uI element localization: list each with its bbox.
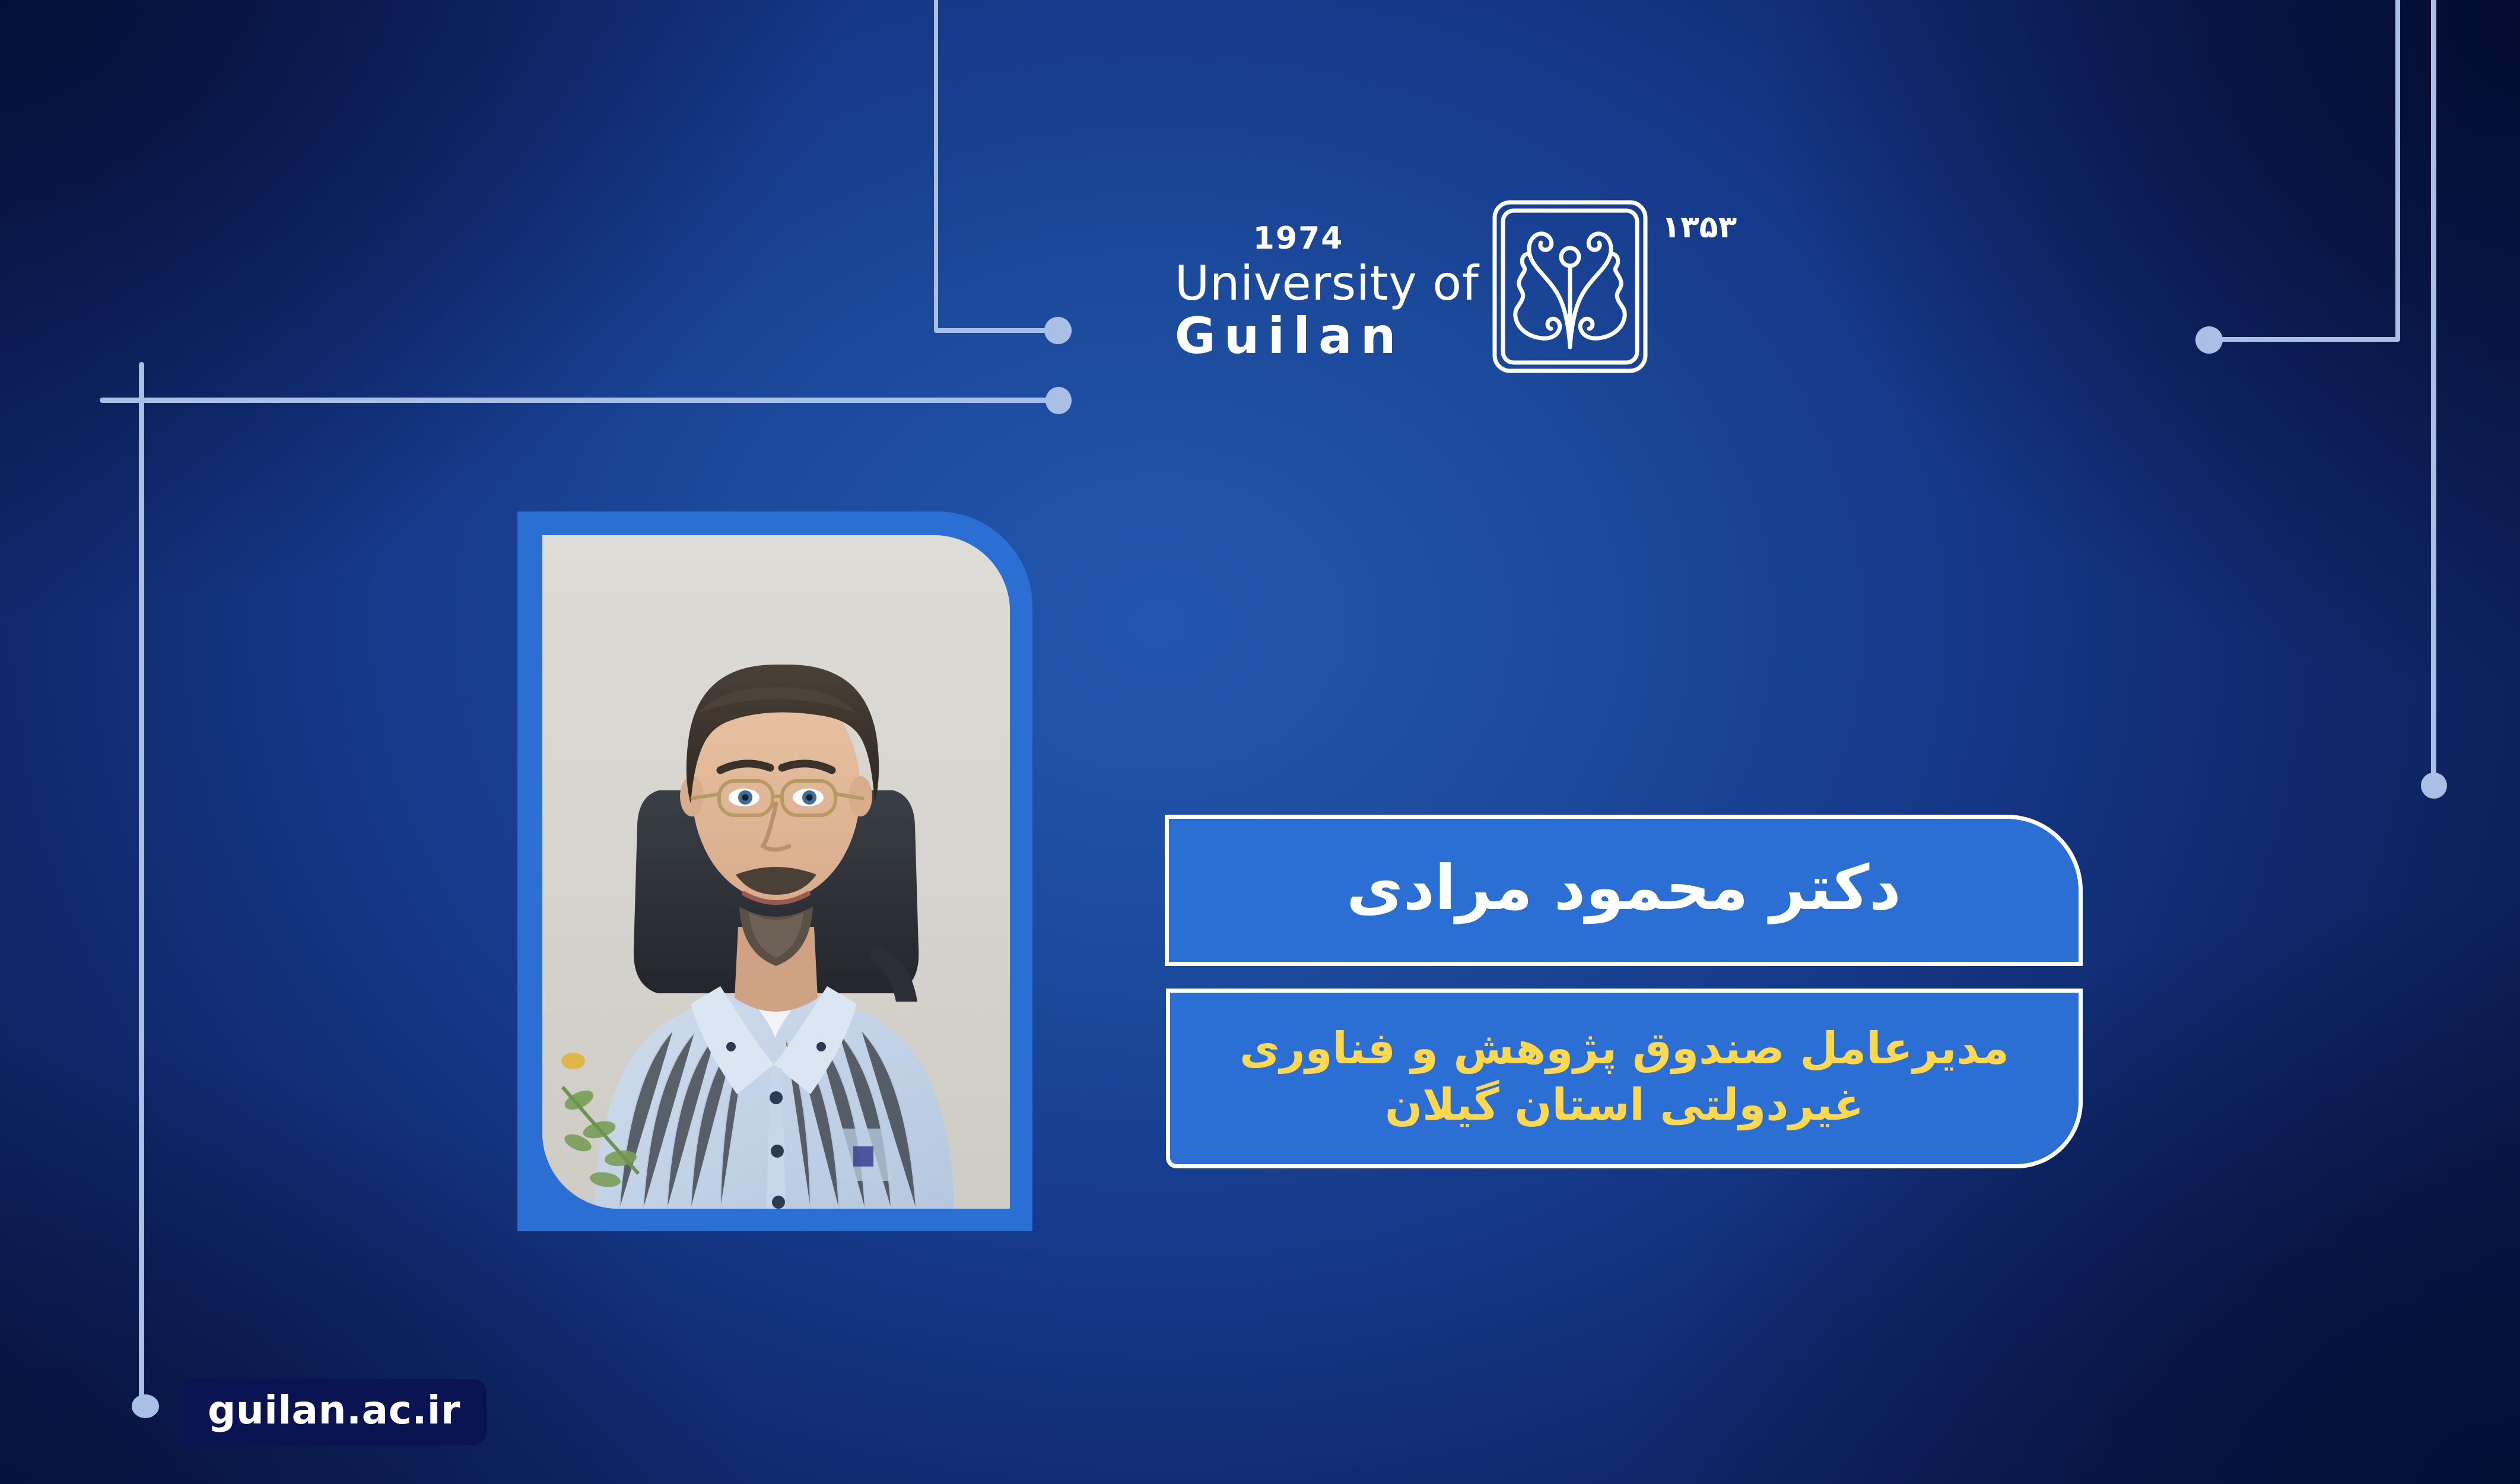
logo-latin-text: 1974 University of Guilan [1175,212,1479,363]
decor-dot-right-corner [2195,326,2223,354]
decor-line-left-vertical [139,362,144,1406]
portrait-frame [517,511,1032,1231]
portrait-photo [542,535,1010,1209]
logo-founding-year-persian: ۱۳۵۳ [1661,209,1737,245]
decor-line-mid-horizontal [100,398,1054,403]
decor-line-right-corner-horizontal [2210,337,2400,342]
university-logo: 1974 University of Guilan ۱۳۵۳ [1145,196,2106,380]
logo-persian-script: دانشگاه گیلان [1661,245,2077,366]
logo-guilan-word: Guilan [1175,311,1479,361]
poster-canvas: 1974 University of Guilan ۱۳۵۳ [0,0,2520,1484]
person-title: مدیرعامل صندوق پژوهش و فناوری غیردولتی ا… [1219,1021,2029,1136]
website-url-badge[interactable]: guilan.ac.ir [182,1379,487,1445]
svg-text:دانشگاه گیلان: دانشگاه گیلان [2074,263,2077,354]
person-name-banner: دکتر محمود مرادی [1165,815,2083,966]
person-title-line2: غیردولتی استان گیلان [1385,1079,1864,1130]
decor-dot-mid [1046,387,1072,414]
decor-dot-right [2421,773,2447,799]
logo-university-word: University of [1175,260,1479,307]
person-title-banner: مدیرعامل صندوق پژوهش و فناوری غیردولتی ا… [1166,989,2083,1168]
decor-dot-bottom-left [132,1394,159,1418]
logo-founding-year-latin: 1974 [1253,223,1479,254]
person-name: دکتر محمود مرادی [1346,857,1901,924]
decor-line-right-vertical [2431,0,2436,786]
decor-dot-top [1044,317,1072,344]
guilan-emblem-icon [1487,198,1653,378]
person-title-line1: مدیرعامل صندوق پژوهش و فناوری [1240,1023,2009,1074]
website-url-text: guilan.ac.ir [208,1391,460,1430]
decor-line-right-corner-vertical [2395,0,2400,341]
decor-line-top-horizontal [934,328,1053,333]
logo-persian-text: ۱۳۵۳ دانشگاه گیلان [1661,214,2077,362]
portrait-illustration [542,535,1010,1209]
decor-line-top-vertical [934,0,938,332]
